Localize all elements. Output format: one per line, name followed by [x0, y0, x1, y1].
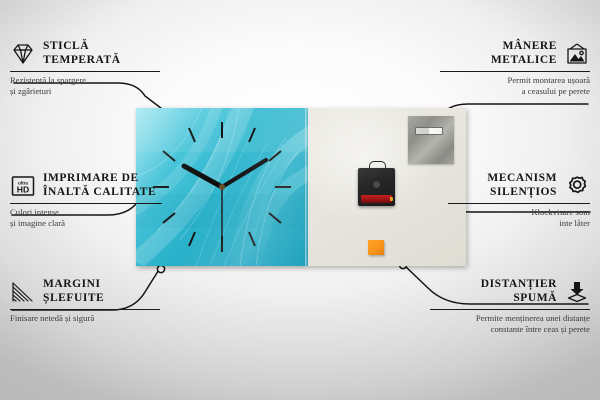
clock-mechanism	[358, 168, 395, 206]
polished-edge-icon	[10, 280, 36, 304]
feature-title: STICLĂ TEMPERATĂ	[43, 40, 121, 67]
feature-tempered-glass: STICLĂ TEMPERATĂ Rezistentă la spargere …	[10, 40, 160, 96]
down-arrow-stack-icon	[564, 280, 590, 304]
metal-hanger-plate	[408, 116, 454, 164]
feature-foam-spacer: DISTANȚIER SPUMĂ Permite menținerea unei…	[430, 278, 590, 334]
connector-dot-edges	[157, 265, 164, 272]
feature-divider	[440, 71, 590, 72]
feature-divider	[10, 71, 160, 72]
feature-divider	[10, 309, 160, 310]
feature-high-quality-print: ultra HD IMPRIMARE DE ÎNALTĂ CALITATE Cu…	[10, 172, 162, 228]
foam-spacer-pad	[368, 240, 384, 255]
product-image	[136, 108, 466, 266]
feature-silent-mechanism: MECANISM SILENȚIOS Klockvisare som inte …	[448, 172, 590, 228]
feature-subtitle: Permit montarea ușoară a ceasului pe per…	[440, 75, 590, 96]
feature-metal-handles: MÂNERE METALICE Permit montarea ușoară a…	[440, 40, 590, 96]
feature-title: IMPRIMARE DE ÎNALTĂ CALITATE	[43, 172, 156, 199]
feature-polished-edges: MARGINI ȘLEFUITE Finisare netedă și sigu…	[10, 278, 160, 324]
ultra-hd-icon: ultra HD	[10, 174, 36, 198]
feature-title: DISTANȚIER SPUMĂ	[481, 278, 557, 305]
feature-divider	[10, 203, 162, 204]
mechanism-hanging-loop	[369, 161, 386, 171]
infographic-canvas: STICLĂ TEMPERATĂ Rezistentă la spargere …	[0, 0, 600, 400]
mechanism-shaft	[373, 181, 380, 188]
feature-subtitle: Permite menținerea unei distanțe constan…	[430, 313, 590, 334]
diamond-icon	[10, 42, 36, 66]
feature-subtitle: Finisare netedă și sigură	[10, 313, 160, 324]
feature-subtitle: Rezistentă la spargere și zgârieturi	[10, 75, 160, 96]
gear-icon	[564, 174, 590, 198]
svg-text:HD: HD	[17, 184, 29, 194]
feature-subtitle: Culori intense și imagine clară	[10, 207, 162, 228]
clock-back-panel	[308, 108, 466, 266]
feature-divider	[448, 203, 590, 204]
picture-hanger-icon	[564, 42, 590, 66]
feature-divider	[430, 309, 590, 310]
feature-title: MARGINI ȘLEFUITE	[43, 278, 104, 305]
feature-title: MECANISM SILENȚIOS	[487, 172, 557, 199]
battery	[361, 195, 392, 203]
feature-title: MÂNERE METALICE	[491, 40, 557, 67]
feature-subtitle: Klockvisare som inte låter	[448, 207, 590, 228]
hanger-keyhole-slot	[415, 127, 443, 135]
